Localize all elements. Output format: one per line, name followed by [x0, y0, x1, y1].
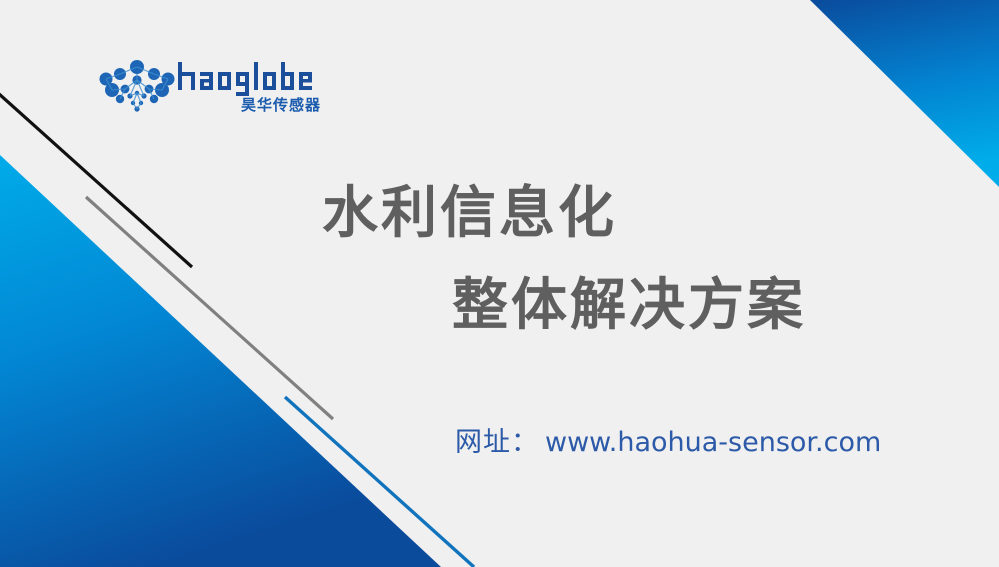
website-label: 网址：	[455, 420, 539, 459]
page-title: 水利信息化 整体解决方案	[0, 168, 999, 352]
haoglobe-network-logo-mark	[98, 60, 176, 112]
haoglobe-wordmark	[176, 58, 321, 96]
company-logo: 昊华传感器	[98, 58, 323, 120]
presentation-title-slide: 昊华传感器 水利信息化 整体解决方案 网址： www.haohua-sensor…	[0, 0, 999, 567]
logo-subtitle-chinese: 昊华传感器	[196, 94, 321, 115]
title-line-1: 水利信息化	[0, 168, 999, 260]
website-url[interactable]: www.haohua-sensor.com	[545, 427, 881, 458]
top-right-blue-triangle	[810, 0, 999, 187]
website-line: 网址： www.haohua-sensor.com	[455, 420, 881, 459]
title-line-2: 整体解决方案	[0, 260, 999, 352]
